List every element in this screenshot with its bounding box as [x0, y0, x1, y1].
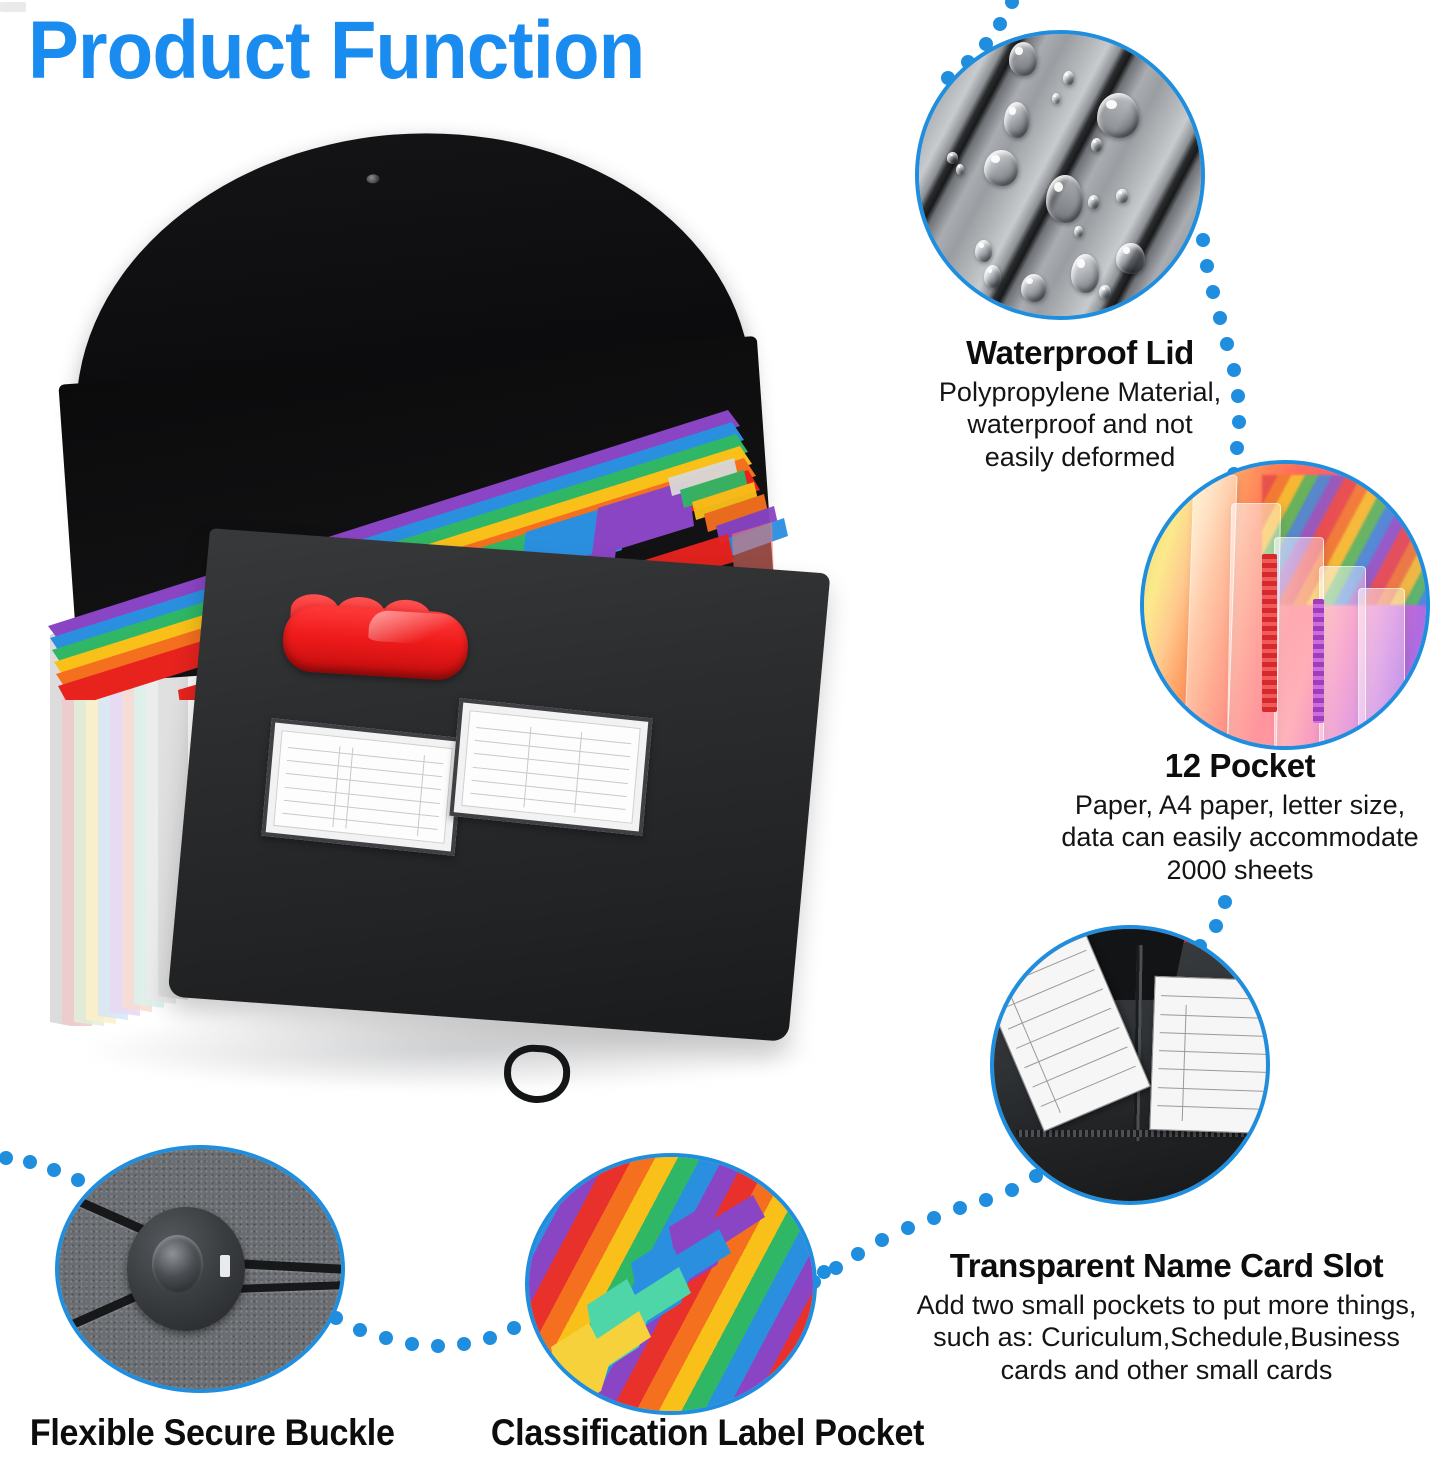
- elastic-cord-buckle-photo: [59, 1149, 341, 1389]
- waterproof-lid-heading: Waterproof Lid: [900, 335, 1260, 372]
- name-card-slot-body-line-1: Add two small pockets to put more things…: [890, 1289, 1443, 1321]
- red-carry-handle: [281, 602, 470, 681]
- waterproof-lid-body: Polypropylene Material, waterproof and n…: [900, 376, 1260, 473]
- handle-highlight: [368, 610, 462, 647]
- twelve-pocket-body: Paper, A4 paper, letter size, data can e…: [1040, 789, 1440, 886]
- name-card-slot-body-line-3: cards and other small cards: [890, 1354, 1443, 1386]
- handle-body: [281, 602, 470, 681]
- corner-artifact: [0, 2, 26, 12]
- twelve-pocket-photo: [1140, 460, 1430, 750]
- twelve-pocket-text: 12 Pocket Paper, A4 paper, letter size, …: [1040, 748, 1440, 886]
- flexible-secure-buckle-photo: [55, 1145, 345, 1393]
- rainbow-tabs-svg: [529, 1157, 817, 1415]
- expanding-file-folder-illustration: [28, 130, 858, 1060]
- name-card-slot-heading: Transparent Name Card Slot: [890, 1248, 1443, 1285]
- water-droplets-on-ribbed-lid-photo: [919, 34, 1201, 316]
- translucent-rainbow-pockets-photo: [1144, 464, 1426, 746]
- label-card-right: [461, 710, 640, 824]
- name-card-slot-body-line-2: such as: Curiculum,Schedule,Business: [890, 1321, 1443, 1353]
- name-card-slot-body: Add two small pockets to put more things…: [890, 1289, 1443, 1386]
- elastic-cord-loop: [503, 1043, 572, 1104]
- classification-label-pocket-label: Classification Label Pocket: [491, 1412, 924, 1454]
- twelve-pocket-body-line-2: data can easily accommodate: [1040, 821, 1440, 853]
- twelve-pocket-body-line-1: Paper, A4 paper, letter size,: [1040, 789, 1440, 821]
- rainbow-label-tabs-photo: [529, 1157, 813, 1411]
- name-card-slot-photo-inner: [994, 929, 1266, 1201]
- twelve-pocket-body-line-3: 2000 sheets: [1040, 854, 1440, 886]
- name-card-slot-photo: [990, 925, 1270, 1205]
- name-card-right: [1149, 976, 1270, 1134]
- label-card-pocket-left: [261, 718, 464, 856]
- waterproof-lid-body-line-1: Polypropylene Material,: [900, 376, 1260, 408]
- flexible-secure-buckle-label: Flexible Secure Buckle: [30, 1412, 395, 1454]
- waterproof-lid-photo: [915, 30, 1205, 320]
- waterproof-lid-body-line-2: waterproof and not: [900, 408, 1260, 440]
- twelve-pocket-heading: 12 Pocket: [1040, 748, 1440, 785]
- infographic-page: Product Function: [0, 0, 1443, 1470]
- label-card-pocket-right: [449, 698, 652, 836]
- name-card-slot-text: Transparent Name Card Slot Add two small…: [890, 1248, 1443, 1386]
- page-title: Product Function: [28, 8, 644, 94]
- label-card-left: [273, 730, 452, 844]
- classification-label-pocket-photo: [525, 1153, 817, 1415]
- waterproof-lid-text: Waterproof Lid Polypropylene Material, w…: [900, 335, 1260, 473]
